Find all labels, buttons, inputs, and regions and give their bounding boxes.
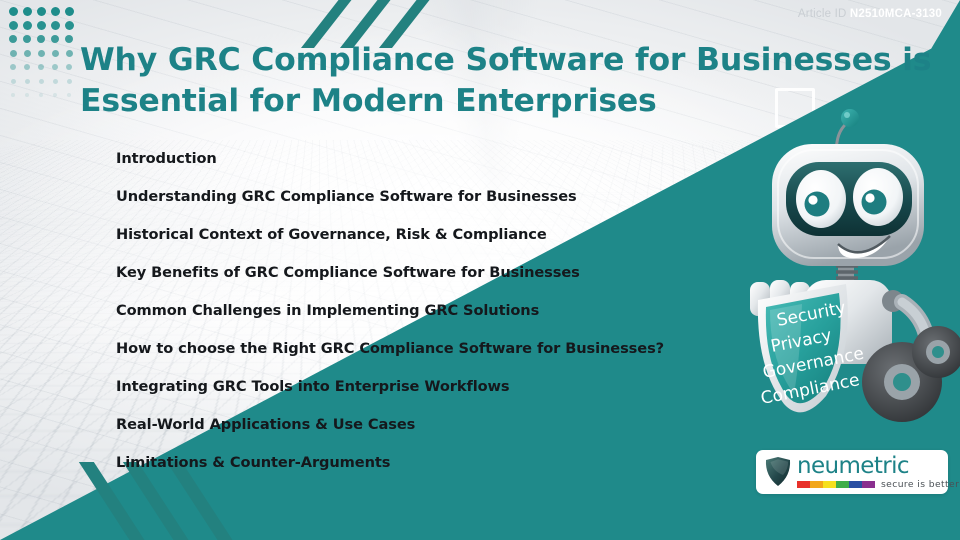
logo-wordmark: neumetric bbox=[797, 455, 959, 477]
neumetric-logo[interactable]: neumetric secure is better bbox=[756, 450, 948, 494]
list-item[interactable]: Integrating GRC Tools into Enterprise Wo… bbox=[116, 368, 756, 406]
decorative-stripes-top bbox=[322, 0, 452, 44]
logo-tagline: secure is better bbox=[881, 479, 959, 490]
list-item[interactable]: Historical Context of Governance, Risk &… bbox=[116, 216, 756, 254]
list-item[interactable]: Real-World Applications & Use Cases bbox=[116, 406, 756, 444]
article-id: Article ID N2510MCA-3130 bbox=[798, 8, 942, 20]
list-item[interactable]: Common Challenges in Implementing GRC So… bbox=[116, 292, 756, 330]
list-item[interactable]: Limitations & Counter-Arguments bbox=[116, 444, 756, 482]
logo-text-block: neumetric secure is better bbox=[797, 455, 959, 490]
article-id-label: Article ID bbox=[798, 8, 847, 20]
article-id-value: N2510MCA-3130 bbox=[850, 8, 942, 20]
logo-color-bars bbox=[797, 481, 875, 488]
list-item[interactable]: Understanding GRC Compliance Software fo… bbox=[116, 178, 756, 216]
list-item[interactable]: How to choose the Right GRC Compliance S… bbox=[116, 330, 756, 368]
robot-antenna-ball bbox=[841, 109, 859, 127]
list-item[interactable]: Key Benefits of GRC Compliance Software … bbox=[116, 254, 756, 292]
slide-canvas: Article ID N2510MCA-3130 Why GRC Complia… bbox=[0, 0, 960, 540]
list-item[interactable]: Introduction bbox=[116, 140, 756, 178]
decorative-dot-grid bbox=[6, 4, 76, 102]
shield-icon bbox=[764, 456, 792, 488]
logo-tagline-row: secure is better bbox=[797, 479, 959, 490]
robot-mascot-illustration: Security Privacy Governance Compliance bbox=[742, 104, 960, 434]
table-of-contents: Introduction Understanding GRC Complianc… bbox=[116, 140, 756, 482]
